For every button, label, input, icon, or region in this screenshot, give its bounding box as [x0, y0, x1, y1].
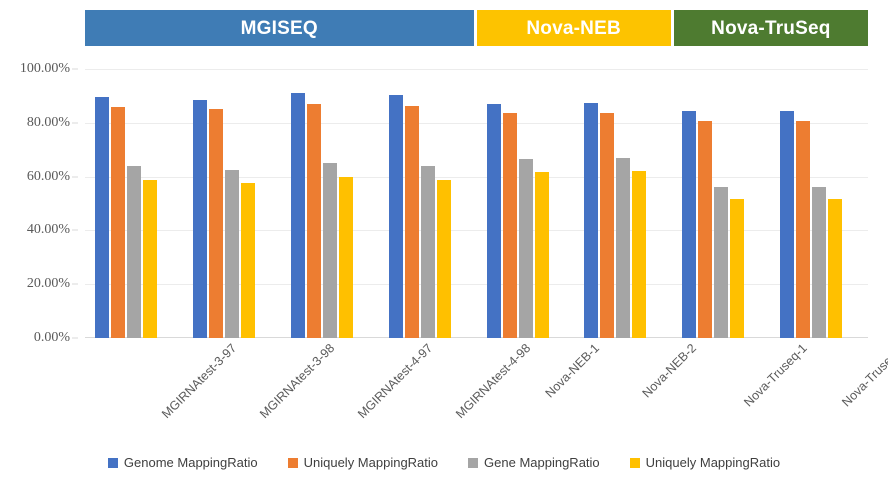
- chart-legend: Genome MappingRatioUniquely MappingRatio…: [0, 455, 888, 470]
- x-axis: MGIRNAtest-3-97MGIRNAtest-3-98MGIRNAtest…: [85, 341, 868, 446]
- bar: [616, 158, 630, 338]
- bar-groups: [85, 69, 868, 338]
- bar: [389, 95, 403, 338]
- group-banner-nova-truseq: Nova-TruSeq: [674, 10, 868, 46]
- legend-item[interactable]: Genome MappingRatio: [108, 455, 258, 470]
- bar: [291, 93, 305, 338]
- group-banner-row: MGISEQ Nova-NEB Nova-TruSeq: [85, 10, 868, 46]
- y-tick-label: 40.00%: [27, 222, 70, 238]
- y-axis: 100.00%80.00%60.00%40.00%20.00%0.00%: [0, 69, 78, 338]
- y-tick-mark: [72, 284, 78, 285]
- group-banner-mgiseq-label: MGISEQ: [241, 19, 318, 38]
- bar: [730, 199, 744, 338]
- bar: [780, 111, 794, 338]
- bar: [225, 170, 239, 338]
- bar: [584, 103, 598, 338]
- bar: [503, 113, 517, 338]
- y-tick-mark: [72, 230, 78, 231]
- bar: [143, 180, 157, 338]
- legend-item[interactable]: Uniquely MappingRatio: [630, 455, 780, 470]
- bar: [307, 104, 321, 338]
- legend-swatch-icon: [108, 458, 118, 468]
- x-tick-label: Nova-NEB-1: [542, 341, 602, 401]
- bar-group: [379, 69, 477, 338]
- bar: [111, 107, 125, 338]
- bar: [682, 111, 696, 338]
- y-tick-mark: [72, 176, 78, 177]
- legend-swatch-icon: [468, 458, 478, 468]
- y-tick-mark: [72, 338, 78, 339]
- bar: [487, 104, 501, 338]
- bar: [535, 172, 549, 338]
- legend-label: Genome MappingRatio: [124, 455, 258, 470]
- legend-swatch-icon: [630, 458, 640, 468]
- x-tick-label: MGIRNAtest-4-97: [355, 341, 435, 421]
- plot-area: [85, 69, 868, 338]
- x-tick-label: MGIRNAtest-3-97: [159, 341, 239, 421]
- bar: [209, 109, 223, 338]
- bar: [95, 97, 109, 338]
- bar: [241, 183, 255, 338]
- bar-group: [672, 69, 770, 338]
- legend-swatch-icon: [288, 458, 298, 468]
- group-banner-mgiseq: MGISEQ: [85, 10, 474, 46]
- bar: [339, 177, 353, 338]
- bar-group: [770, 69, 868, 338]
- bar: [437, 180, 451, 338]
- group-banner-nova-neb-label: Nova-NEB: [526, 19, 621, 38]
- y-tick-label: 60.00%: [27, 169, 70, 185]
- y-tick-label: 100.00%: [20, 61, 70, 77]
- bar: [632, 171, 646, 338]
- bar-group: [477, 69, 575, 338]
- bar: [828, 199, 842, 338]
- bar-group: [183, 69, 281, 338]
- legend-label: Uniquely MappingRatio: [646, 455, 780, 470]
- legend-item[interactable]: Gene MappingRatio: [468, 455, 600, 470]
- y-tick-mark: [72, 69, 78, 70]
- bar: [698, 121, 712, 338]
- bar: [714, 187, 728, 338]
- x-tick-label: MGIRNAtest-4-98: [453, 341, 533, 421]
- y-tick-label: 20.00%: [27, 276, 70, 292]
- legend-item[interactable]: Uniquely MappingRatio: [288, 455, 438, 470]
- y-tick-mark: [72, 122, 78, 123]
- x-tick-label: MGIRNAtest-3-98: [257, 341, 337, 421]
- legend-label: Gene MappingRatio: [484, 455, 600, 470]
- x-tick-label: Nova-Truseq-2: [839, 341, 888, 410]
- bar: [405, 106, 419, 338]
- group-banner-nova-truseq-label: Nova-TruSeq: [711, 19, 830, 38]
- bar: [127, 166, 141, 338]
- bar-group: [574, 69, 672, 338]
- bar-group: [85, 69, 183, 338]
- group-banner-nova-neb: Nova-NEB: [477, 10, 671, 46]
- legend-label: Uniquely MappingRatio: [304, 455, 438, 470]
- bar-group: [281, 69, 379, 338]
- bar: [421, 166, 435, 338]
- x-tick-label: Nova-NEB-2: [640, 341, 700, 401]
- bar-chart: MGISEQ Nova-NEB Nova-TruSeq 100.00%80.00…: [0, 0, 888, 490]
- x-tick-label: Nova-Truseq-1: [742, 341, 811, 410]
- bar: [600, 113, 614, 338]
- bar: [812, 187, 826, 338]
- bar: [323, 163, 337, 338]
- y-tick-label: 80.00%: [27, 115, 70, 131]
- bar: [796, 121, 810, 338]
- bar: [519, 159, 533, 338]
- y-tick-label: 0.00%: [34, 330, 70, 346]
- bar: [193, 100, 207, 338]
